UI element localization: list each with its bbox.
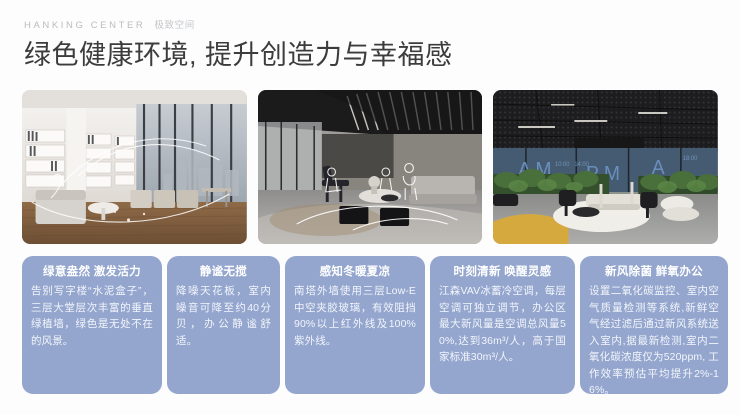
svg-text:18:00: 18:00: [683, 156, 698, 162]
feature-card-title: 绿意盎然 激发活力: [43, 264, 141, 280]
photo-green-terrace-lounge: A M P M A 10:0014:0018:00: [493, 90, 718, 244]
feature-card-body: 南塔外墙使用三层Low-E中空夹胶玻璃，有效阻挡90%以上红外线及100%紫外线…: [294, 283, 416, 349]
feature-card-body: 降噪天花板，室内噪音可降至约40分贝，办公静谧舒适。: [176, 283, 271, 349]
feature-card-thermal: 感知冬暖夏凉 南塔外墙使用三层Low-E中空夹胶玻璃，有效阻挡90%以上红外线及…: [285, 256, 425, 394]
brand-name-en: HANKING CENTER: [24, 20, 145, 31]
photo-green-terrace-lounge-image: A M P M A 10:0014:0018:00: [493, 90, 718, 244]
feature-card-body: 江森VAV冰蓄冷空调，每层空调可独立调节，办公区最大新风量是空调总风量50%,达…: [439, 283, 566, 366]
feature-card-row: 绿意盎然 激发活力 告别写字楼“水泥盒子”，三层大堂层次丰富的垂直绿植墙，绿色是…: [22, 256, 718, 394]
photo-dark-ceiling-lounge: [258, 90, 483, 244]
feature-card-fresh-air: 时刻清新 唤醒灵感 江森VAV冰蓄冷空调，每层空调可独立调节，办公区最大新风量是…: [430, 256, 575, 394]
feature-card-air-quality: 新风除菌 鲜氧办公 设置二氧化碳监控、室内空气质量检测等系统,新鲜空气经过滤后通…: [580, 256, 728, 394]
feature-card-green: 绿意盎然 激发活力 告别写字楼“水泥盒子”，三层大堂层次丰富的垂直绿植墙，绿色是…: [22, 256, 162, 394]
feature-card-body: 设置二氧化碳监控、室内空气质量检测等系统,新鲜空气经过滤后通过新风系统送入室内,…: [589, 283, 719, 394]
feature-card-quiet: 静谧无搅 降噪天花板，室内噪音可降至约40分贝，办公静谧舒适。: [167, 256, 280, 394]
photo-lobby-lounge: [22, 90, 247, 244]
photo-gallery: A M P M A 10:0014:0018:00: [22, 90, 718, 244]
svg-text:10:00: 10:00: [555, 162, 570, 168]
page-title: 绿色健康环境, 提升创造力与幸福感: [24, 38, 453, 72]
svg-text:14:00: 14:00: [575, 162, 590, 168]
feature-card-title: 新风除菌 鲜氧办公: [605, 264, 703, 280]
brand-name-cn: 极致空间: [154, 17, 194, 31]
feature-card-title: 时刻清新 唤醒灵感: [454, 264, 552, 280]
slide-root: HANKING CENTER 极致空间 绿色健康环境, 提升创造力与幸福感: [0, 0, 740, 415]
feature-card-title: 感知冬暖夏凉: [320, 264, 391, 280]
brand-eyebrow: HANKING CENTER 极致空间: [24, 17, 195, 31]
photo-dark-ceiling-lounge-image: [258, 90, 483, 244]
feature-card-body: 告别写字楼“水泥盒子”，三层大堂层次丰富的垂直绿植墙，绿色是无处不在的风景。: [31, 283, 153, 349]
feature-card-title: 静谧无搅: [200, 264, 247, 280]
photo-lobby-lounge-image: [22, 90, 247, 244]
